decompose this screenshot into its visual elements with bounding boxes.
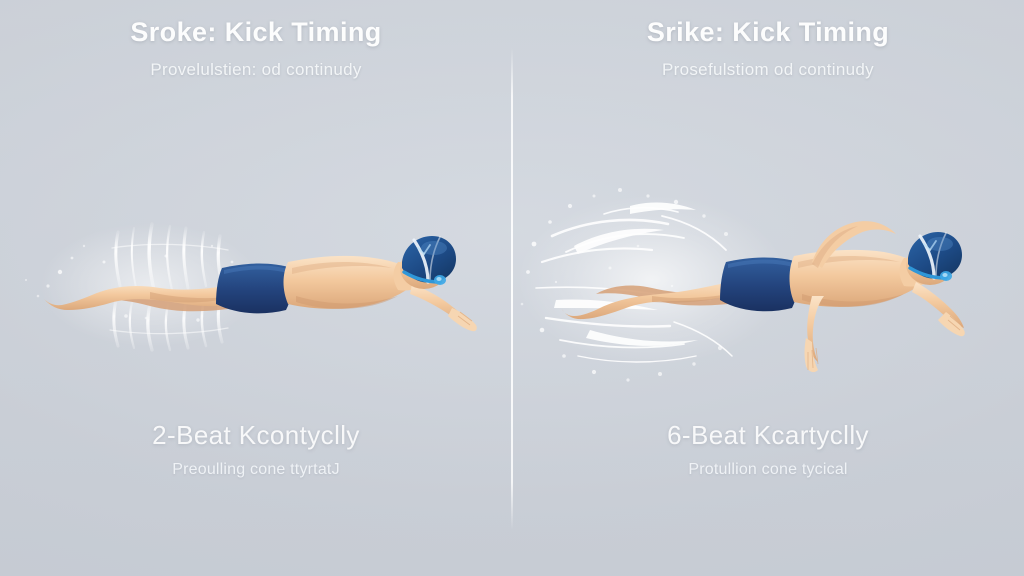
comparison-image: Sroke: Kick Timing Provelulstien: od con…: [0, 0, 1024, 576]
left-footer-title: 2-Beat Kcontyclly: [0, 420, 512, 451]
left-swimmer-figure: [0, 0, 512, 576]
panel-right: Srike: Kick Timing Prosefulstiom od cont…: [512, 0, 1024, 576]
right-footer-title: 6-Beat Kcartyclly: [512, 420, 1024, 451]
panel-left: Sroke: Kick Timing Provelulstien: od con…: [0, 0, 512, 576]
left-footer-caption: Preoulling cone ttyrtatJ: [0, 461, 512, 479]
right-footer-caption: Protullion cone tycical: [512, 461, 1024, 479]
right-footer: 6-Beat Kcartyclly Protullion cone tycica…: [512, 420, 1024, 479]
panel-divider: [511, 48, 513, 530]
right-swimmer-figure: [512, 0, 1024, 576]
left-footer: 2-Beat Kcontyclly Preoulling cone ttyrta…: [0, 420, 512, 479]
